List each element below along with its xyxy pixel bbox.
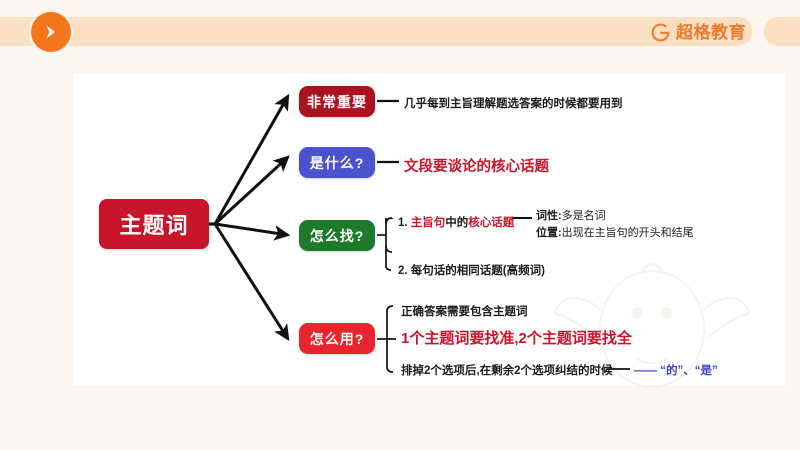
subdetail-position: 位置:出现在主旨句的开头和结尾	[536, 224, 694, 240]
detail-how-to-find-1: 1. 主旨句中的核心话题	[398, 214, 514, 230]
node-root-label: 主题词	[119, 208, 188, 240]
node-branch-importance-label: 非常重要	[307, 92, 367, 112]
subdetail-position-value: 出现在主旨句的开头和结尾	[562, 227, 694, 239]
detail-importance-1: 几乎每到主旨理解题选答案的时候都要用到	[404, 95, 623, 111]
node-branch-how-to-use[interactable]: 怎么用?	[299, 323, 375, 354]
subdetail-word-class-value: 多是名词	[562, 210, 606, 222]
node-root-main-topic[interactable]: 主题词	[99, 199, 209, 249]
detail-highlight-c: 核心话题	[468, 217, 514, 229]
detail-how-to-use-2: 1个主题词要找准,2个主题词要找全	[401, 327, 632, 348]
node-branch-what-is-it-label: 是什么?	[310, 153, 365, 173]
subdetail-word-class: 词性:多是名词	[536, 207, 606, 223]
detail-what-is-it-1: 文段要谈论的核心话题	[404, 155, 549, 176]
node-branch-how-to-find-label: 怎么找?	[310, 226, 365, 246]
detail-how-to-use-3: 排掉2个选项后,在剩余2个选项纠结的时候	[401, 362, 613, 378]
subdetail-word-class-label: 词性:	[536, 210, 562, 222]
detail-index: 1.	[398, 217, 408, 229]
detail-plain-b: 中的	[445, 217, 468, 229]
node-branch-importance[interactable]: 非常重要	[299, 86, 375, 117]
node-branch-how-to-use-label: 怎么用?	[310, 329, 365, 349]
detail-highlight-a: 主旨句	[411, 217, 446, 229]
detail-how-to-find-2: 2. 每句话的相同话题(高频词)	[398, 262, 545, 278]
mindmap-nodes: 主题词 非常重要 是什么? 怎么找? 怎么用? 几乎每到主旨理解题选答案的时候都…	[0, 0, 800, 450]
node-branch-how-to-find[interactable]: 怎么找?	[299, 220, 375, 251]
detail-how-to-use-1: 正确答案需要包含主题词	[401, 303, 528, 319]
detail-how-to-use-3-tail: —— “的”、“是”	[634, 362, 718, 378]
node-branch-what-is-it[interactable]: 是什么?	[299, 147, 375, 178]
subdetail-position-label: 位置:	[536, 227, 562, 239]
